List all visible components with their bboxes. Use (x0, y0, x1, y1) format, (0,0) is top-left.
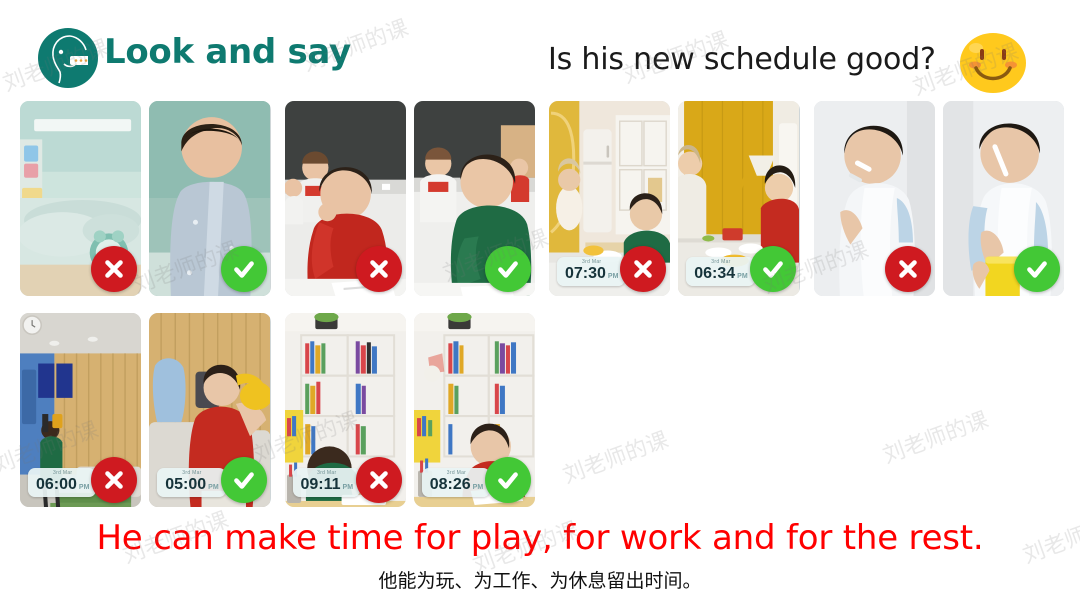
status-badge-cross (885, 246, 931, 292)
clock-meridiem: PM (473, 484, 484, 491)
speaking-face-glyph (48, 34, 88, 84)
cross-icon (101, 467, 127, 493)
cross-icon (630, 256, 656, 282)
scene-grid: 3rd Mar 07:30PM (20, 101, 1064, 507)
caption-english: He can make time for play, for work and … (0, 518, 1080, 558)
scene-cell-good[interactable] (943, 101, 1064, 296)
scene-cell-bad[interactable] (285, 101, 406, 296)
pair-brush-teeth (814, 101, 1065, 296)
status-badge-check (750, 246, 796, 292)
clock-time: 06:00PM (36, 477, 89, 493)
clock-meridiem: PM (737, 273, 748, 280)
check-icon (760, 256, 786, 282)
clock-time: 06:34PM (694, 266, 747, 282)
pair-classroom (285, 101, 536, 296)
status-badge-check (485, 246, 531, 292)
scene-cell-good[interactable]: 3rd Mar 05:00PM (149, 313, 270, 508)
clock-meridiem: PM (608, 273, 619, 280)
pair-study-homework: 3rd Mar 09:11PM (285, 313, 536, 508)
pair-wake-up (20, 101, 271, 296)
pair-dinner-kitchen: 3rd Mar 07:30PM (549, 101, 800, 296)
look-and-say-logo (38, 28, 98, 88)
smiley-face-icon (958, 32, 1028, 94)
cross-icon (366, 256, 392, 282)
status-badge-cross (356, 457, 402, 503)
status-badge-cross (356, 246, 402, 292)
clock-overlay: 3rd Mar 05:00PM (157, 468, 225, 497)
status-badge-check (221, 246, 267, 292)
clock-overlay: 3rd Mar 06:00PM (28, 468, 96, 497)
page-title: Look and say (104, 32, 351, 72)
status-badge-check (485, 457, 531, 503)
scene-cell-good[interactable] (414, 101, 535, 296)
page-header: Look and say Is his new schedule good? (0, 0, 1080, 96)
speaking-face-icon (38, 28, 98, 88)
check-icon (495, 256, 521, 282)
cross-icon (366, 467, 392, 493)
status-badge-cross (91, 457, 137, 503)
scene-cell-bad[interactable]: 3rd Mar 09:11PM (285, 313, 406, 508)
clock-meridiem: PM (79, 484, 90, 491)
clock-meridiem: PM (208, 484, 219, 491)
scene-cell-bad[interactable]: 3rd Mar 06:00PM (20, 313, 141, 508)
scene-cell-good[interactable]: 3rd Mar 08:26PM (414, 313, 535, 508)
scene-cell-good[interactable]: 3rd Mar 06:34PM (678, 101, 799, 296)
scene-cell-bad[interactable] (20, 101, 141, 296)
pair-gym-play: 3rd Mar 06:00PM (20, 313, 271, 508)
scene-cell-good[interactable] (149, 101, 270, 296)
clock-overlay: 3rd Mar 06:34PM (686, 257, 754, 286)
scene-cell-bad[interactable] (814, 101, 935, 296)
check-icon (1024, 256, 1050, 282)
status-badge-check (221, 457, 267, 503)
clock-overlay: 3rd Mar 07:30PM (557, 257, 625, 286)
check-icon (495, 467, 521, 493)
clock-time: 08:26PM (430, 477, 483, 493)
clock-overlay: 3rd Mar 08:26PM (422, 468, 490, 497)
scene-cell-bad[interactable]: 3rd Mar 07:30PM (549, 101, 670, 296)
status-badge-check (1014, 246, 1060, 292)
check-icon (231, 467, 257, 493)
caption-chinese: 他能为玩、为工作、为休息留出时间。 (0, 566, 1080, 593)
clock-time: 05:00PM (165, 477, 218, 493)
clock-overlay: 3rd Mar 09:11PM (293, 468, 361, 497)
cross-icon (101, 256, 127, 282)
check-icon (231, 256, 257, 282)
clock-time: 09:11PM (301, 477, 354, 493)
status-badge-cross (620, 246, 666, 292)
clock-meridiem: PM (343, 484, 354, 491)
status-badge-cross (91, 246, 137, 292)
question-text: Is his new schedule good? (548, 42, 936, 77)
clock-time: 07:30PM (565, 266, 618, 282)
cross-icon (895, 256, 921, 282)
